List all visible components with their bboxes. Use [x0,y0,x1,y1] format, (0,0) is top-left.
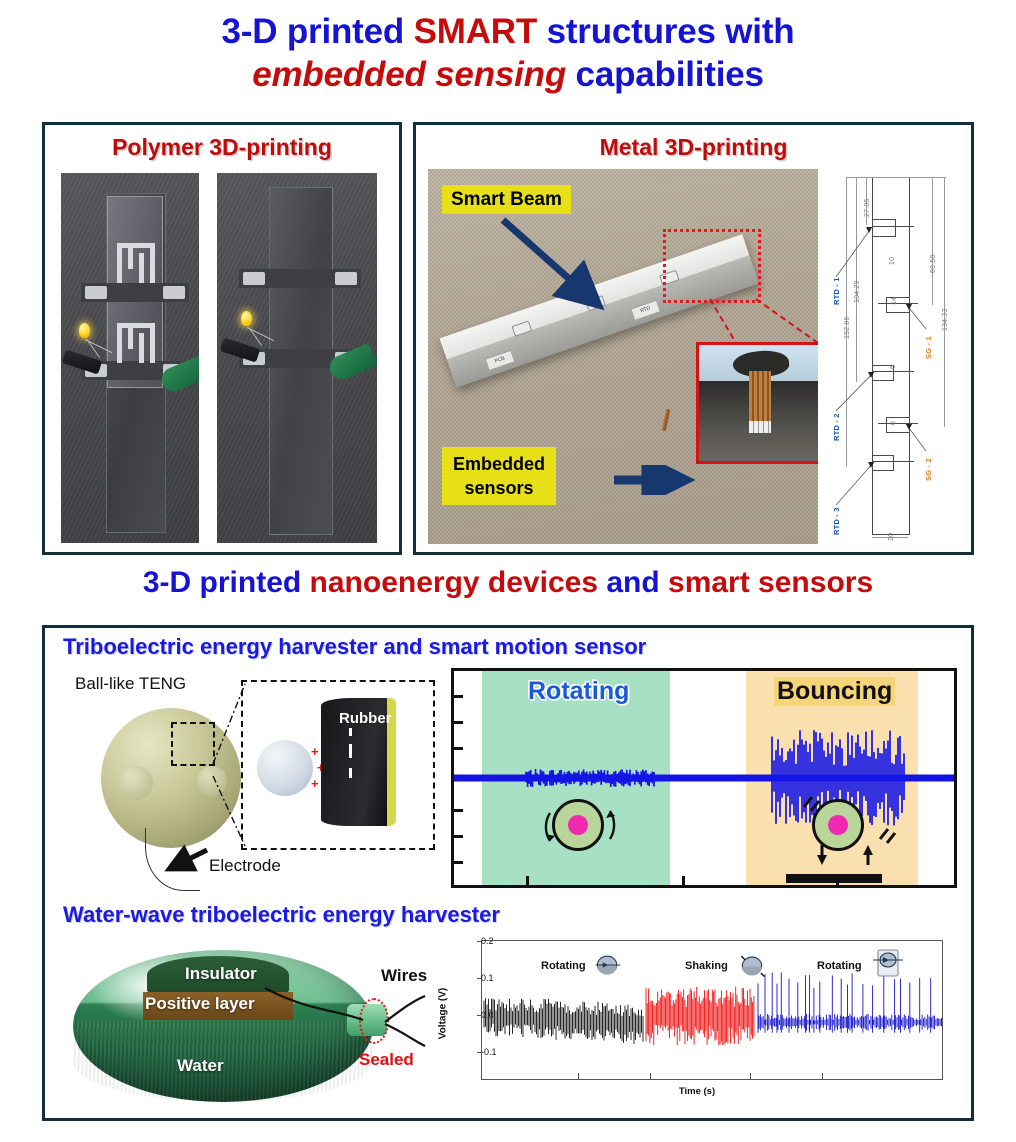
nano-heading-seg-1: 3-D printed [143,566,310,599]
inset-sensor-leads [749,371,771,423]
electrode-arrow-icon [163,844,211,876]
title-seg-smart: SMART [414,12,537,51]
section-heading-nanoenergy: 3-D printed nanoenergy devices and smart… [0,566,1016,600]
rotating-device-icon-1 [593,952,623,978]
nano-heading-seg-3: and [606,566,668,599]
title-seg-embedded-sensing: embedded sensing [252,55,566,94]
interdigitated-electrode-bottom [117,323,157,363]
title-line-1: 3-D printed SMART structures with [0,10,1016,53]
rotating-device-icon-2 [869,946,907,980]
label-embedded-sensors: Embedded sensors [442,447,556,505]
rubber-dash-2 [349,744,352,758]
voltage-annotation-rotating-1: Rotating [541,960,586,972]
voltage-chart-xlabel: Time (s) [437,1086,957,1097]
drawing-label-rtd-3: RTD - 3 [832,507,841,535]
voltage-annotation-rotating-2: Rotating [817,960,862,972]
panel-polymer-3d-printing: Polymer 3D-printing [42,122,402,555]
strip2-pad-tr [335,272,357,285]
nano-heading-seg-4: smart sensors [668,566,873,599]
teng-inner-sphere-left [119,766,153,800]
led-indicator [79,323,90,338]
beam-chip-rtd: RTD [630,300,661,321]
wires-graphic [259,984,429,1054]
subheading-triboelectric: Triboelectric energy harvester and smart… [63,634,646,660]
panel-nanoenergy-devices: Triboelectric energy harvester and smart… [42,625,974,1121]
voltage-annotation-shaking: Shaking [685,960,728,972]
polymer-photo-electrode-pattern [61,173,199,543]
y-axis-tick [477,1015,482,1016]
beam-chip-pcb: PCB [485,350,516,371]
metal-beam-photo: PCB RTD Smart Beam Embedded sensors [428,169,818,544]
nano-heading-seg-2: nanoenergy devices [310,566,607,599]
y-axis-tick [477,978,482,979]
teng-zoom-inset: + + + Rubber [241,680,435,850]
inset-lead-tips [749,421,771,433]
panel-metal-title: Metal 3D-printing [416,134,971,161]
water-wave-device-schematic: Insulator Positive layer Water Wires Sea… [59,940,431,1112]
charge-plus-1: + [311,744,319,759]
strip-contact-pad-tl [85,286,107,299]
y-axis-tick [477,941,482,942]
water-wave-voltage-chart: Voltage (V) 0.2 0.1 0.0 -0.1 Rotating Sh… [437,930,957,1112]
label-sealed: Sealed [359,1050,414,1070]
bounce-ground-bar [786,874,882,883]
rubber-dash-3 [349,768,352,778]
zoom-region-marker [663,229,761,303]
interdigitated-electrode-top [117,243,157,283]
x-axis-tick [650,1073,651,1079]
label-wires: Wires [381,966,427,986]
x-axis-tick [822,1073,823,1079]
label-positive-layer: Positive layer [145,994,255,1014]
label-smart-beam: Smart Beam [442,185,571,214]
bounce-motion-arrows-icon [784,789,904,877]
rotation-arrows-icon [538,793,622,859]
title-line-2: embedded sensing capabilities [0,53,1016,96]
label-ball-like-teng: Ball-like TENG [75,674,186,694]
beam-technical-drawing: 27.05 10 104.29 152.86 69.58 134.33 14 6… [826,169,966,544]
shaking-device-icon [737,952,767,978]
polymer-photo-encapsulated [217,173,377,543]
subheading-water-wave: Water-wave triboelectric energy harveste… [63,902,500,928]
x-axis-tick [578,1073,579,1079]
label-electrode: Electrode [209,856,281,876]
led-indicator [241,311,252,326]
panel-polymer-title: Polymer 3D-printing [45,134,399,161]
motion-sensor-chart: Rotating Bouncing [451,668,957,888]
voltage-chart-ylabel: Voltage (V) [438,988,449,1039]
panel-metal-3d-printing: Metal 3D-printing PCB RTD Smart Beam [413,122,974,555]
drawing-label-rtd-2: RTD - 2 [832,413,841,441]
label-water: Water [177,1056,224,1076]
label-embedded-sensors-line1: Embedded [453,454,545,474]
chart-label-rotating: Rotating [528,677,629,706]
signal-baseline [454,775,954,782]
strip-contact-pad-tr [163,286,185,299]
beam-sensor-slot-1 [512,320,533,336]
chart-label-bouncing: Bouncing [774,677,895,706]
label-rubber: Rubber [339,710,392,727]
title-seg-capabilities: capabilities [566,55,764,94]
rubber-dash-1 [349,728,352,736]
drawing-label-rtd-1: RTD - 1 [832,277,841,305]
page-title: 3-D printed SMART structures with embedd… [0,10,1016,96]
drawing-label-sg-2: SG - 2 [924,458,933,481]
zoom-connector-lines [706,297,818,347]
smart-beam-arrow-icon [498,215,618,315]
label-insulator: Insulator [185,964,257,984]
drawing-label-sg-1: SG - 1 [924,336,933,359]
drawing-leader-lines [826,169,966,544]
title-seg-3: structures with [537,12,794,51]
embedded-sensors-arrow-icon [612,465,698,495]
teng-inner-ball-closeup [257,740,313,796]
teng-schematic: Ball-like TENG Electrode + + + Rubber [59,668,439,890]
title-seg-1: 3-D printed [222,12,414,51]
charge-plus-3: + [311,776,319,791]
y-axis-tick [477,1052,482,1053]
embedded-sensor-closeup-inset [696,342,818,464]
label-embedded-sensors-line2: sensors [464,478,533,498]
strip2-pad-tl [243,272,265,285]
x-axis-tick [750,1073,751,1079]
